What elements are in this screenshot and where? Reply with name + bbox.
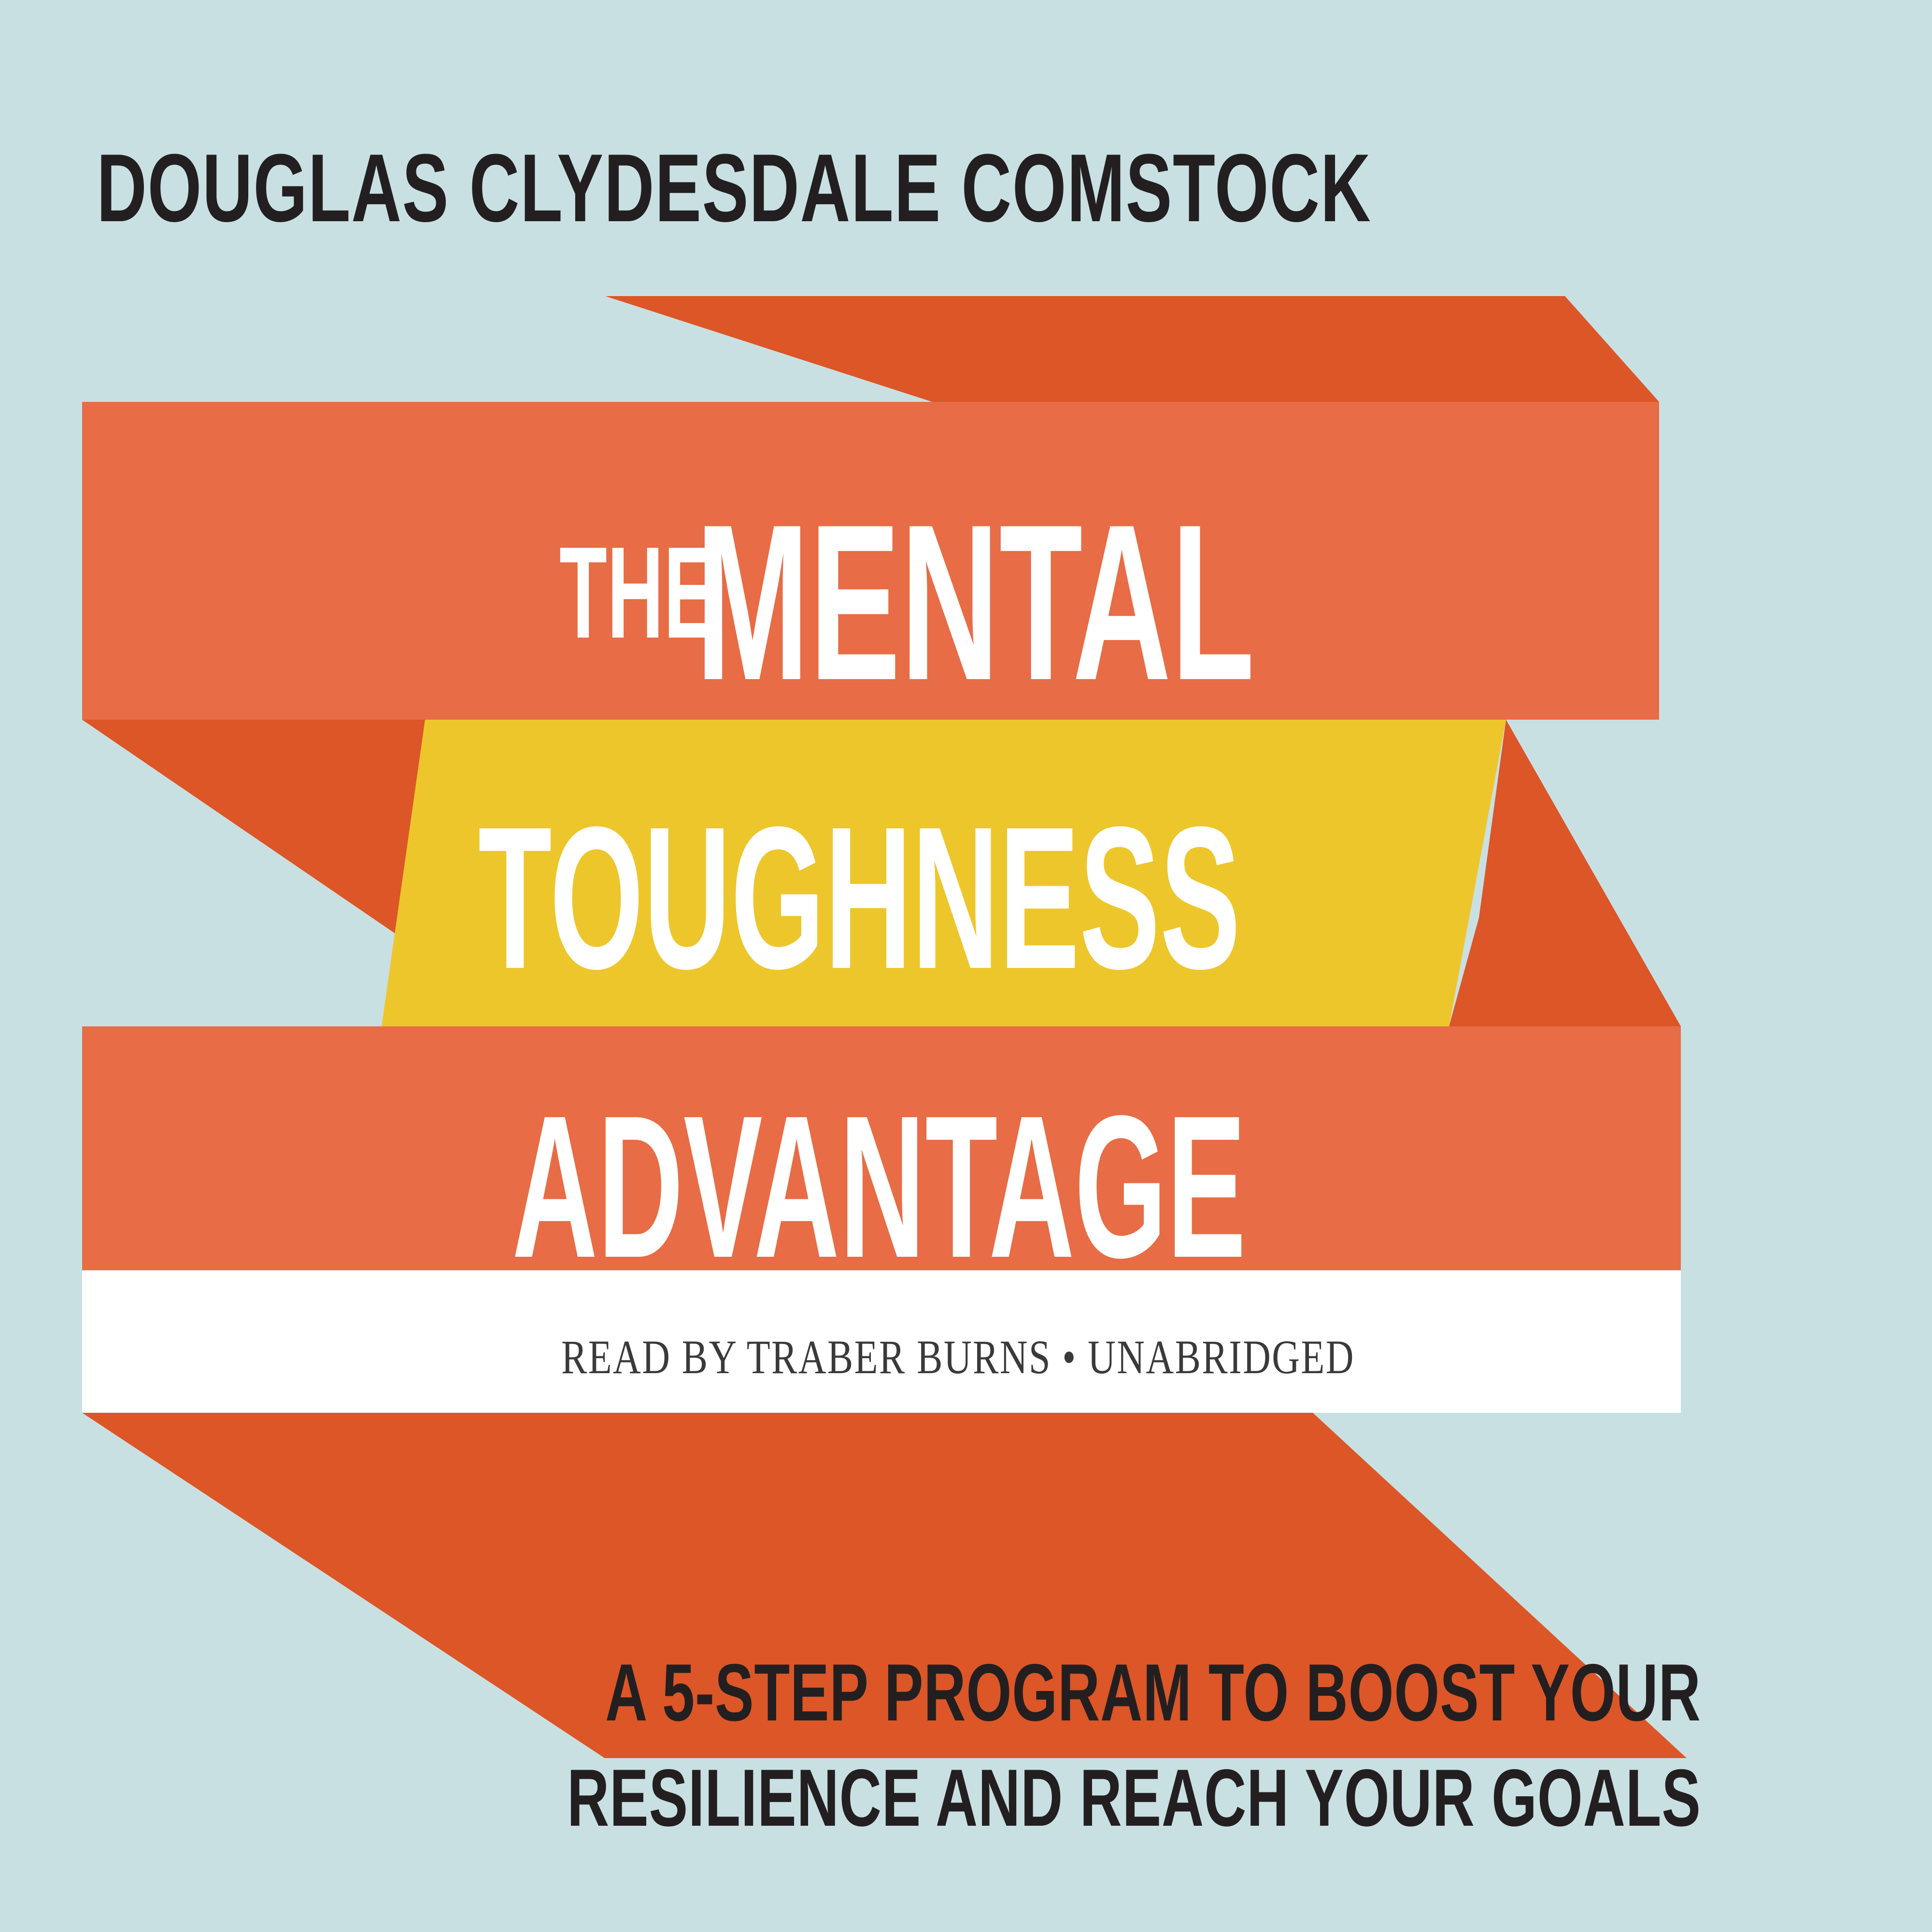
subtitle: A 5-STEP PROGRAM TO BOOST YOUR RESILIENC…: [126, 1640, 1701, 1851]
title-line-mental: MENTAL: [696, 492, 1255, 714]
audiobook-cover: DOUGLAS CLYDESDALE COMSTOCK THE MENTAL T…: [0, 0, 1932, 1932]
author-name: DOUGLAS CLYDESDALE COMSTOCK: [97, 140, 1371, 237]
subtitle-line-2: RESILIENCE AND REACH YOUR GOALS: [567, 1745, 1701, 1850]
narrator-credit: READ BY TRABER BURNS • UNABRIDGED: [561, 1333, 1355, 1381]
title-line-toughness: TOUGHNESS: [478, 797, 1240, 1000]
title-line-the: THE: [559, 528, 716, 658]
subtitle-line-1: A 5-STEP PROGRAM TO BOOST YOUR: [567, 1640, 1701, 1745]
title-line-advantage: ADVANTAGE: [512, 1086, 1246, 1289]
